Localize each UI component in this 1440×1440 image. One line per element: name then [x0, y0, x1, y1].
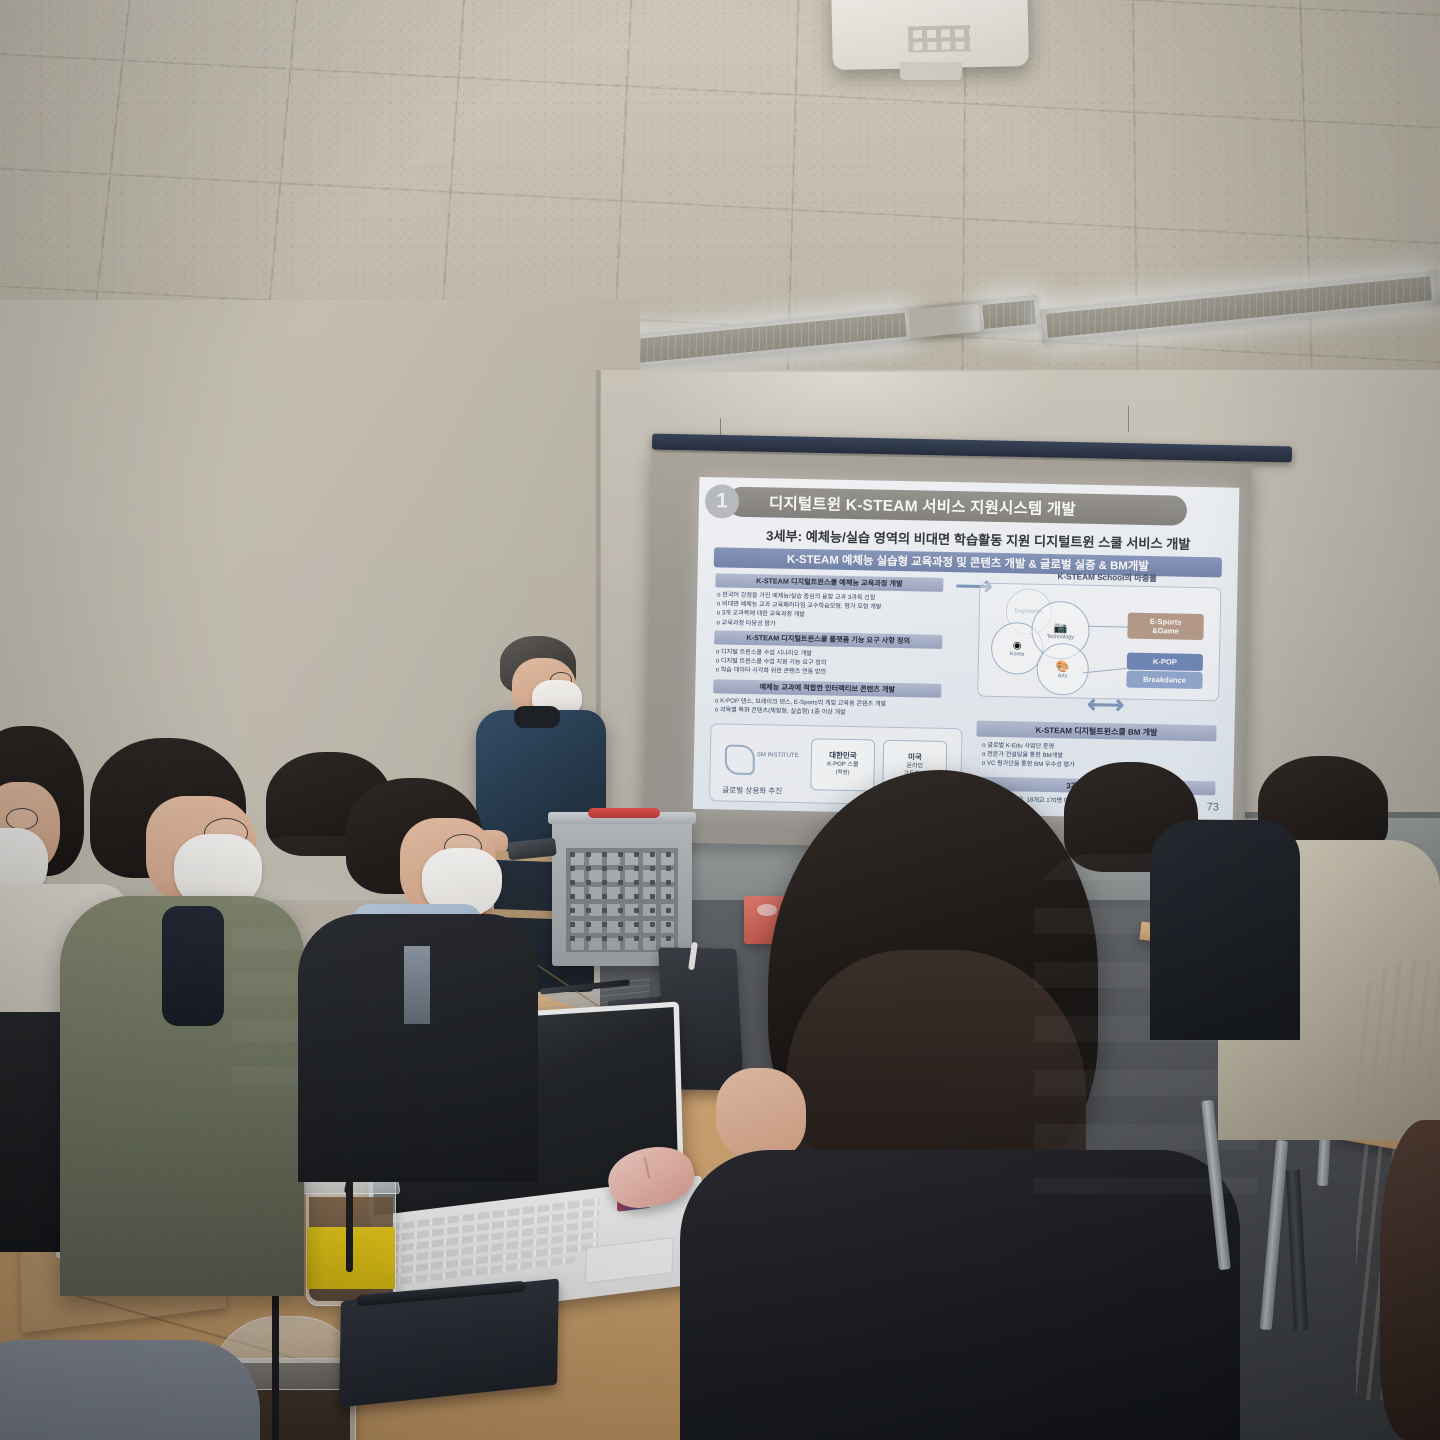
projector-mount	[900, 62, 962, 80]
podium-perforation	[666, 894, 671, 899]
podium-perforation	[586, 866, 591, 871]
podium-perforation	[634, 922, 639, 927]
podium-red-handle	[588, 808, 660, 818]
podium-perforation	[650, 908, 655, 913]
podium-perforation	[618, 880, 623, 885]
chip-breakdance: Breakdance	[1126, 671, 1202, 690]
podium-perforation	[586, 880, 591, 885]
podium-perforation	[650, 936, 655, 941]
diagram-panel: Engineering ◉ Korea 📷 Technology 🎨 Arts …	[977, 583, 1221, 702]
podium-perforation	[570, 880, 575, 885]
attendee-dark-right-back	[1150, 800, 1300, 1040]
podium-perforation	[618, 922, 623, 927]
podium-perforation	[618, 936, 623, 941]
podium-perforation	[650, 866, 655, 871]
podium-perforation	[634, 908, 639, 913]
podium-perforation	[586, 936, 591, 941]
diagram-title: K-STEAM School의 마중물	[1057, 570, 1157, 584]
podium	[552, 818, 692, 966]
longhair-hand	[716, 1068, 806, 1160]
podium-perforation	[570, 922, 575, 927]
podium-perforation	[570, 936, 575, 941]
podium-perforation	[618, 852, 623, 857]
podium-perforation	[602, 866, 607, 871]
foreground-shoulder	[0, 1340, 260, 1440]
podium-perforation	[666, 852, 671, 857]
podium-perforation	[666, 922, 671, 927]
presentation-room-scene: 디지털트윈 K-STEAM 서비스 지원시스템 개발 1 3세부: 예체능/실습…	[0, 0, 1440, 1440]
podium-perforation	[586, 922, 591, 927]
podium-perforation	[666, 936, 671, 941]
podium-perforation	[634, 936, 639, 941]
attendee-far-right-longhair	[1380, 1120, 1440, 1440]
slide-title: 디지털트윈 K-STEAM 서비스 지원시스템 개발	[769, 491, 1076, 519]
podium-perforation	[602, 936, 607, 941]
podium-perforation	[602, 908, 607, 913]
podium-perforation	[666, 866, 671, 871]
podium-perforation	[650, 880, 655, 885]
slide-section-bullets-3: K-POP 댄스, 브레이크 댄스, E-Sports의 게임 교육용 콘텐츠 …	[715, 696, 965, 719]
slide-section-header-1: K-STEAM 디지털트윈스쿨 예체능 교육과정 개발	[715, 573, 943, 592]
diagram-connector-1	[1088, 626, 1128, 628]
podium-perforation	[570, 866, 575, 871]
slide-section-header-3: 예체능 교과에 적합한 인터랙티브 콘텐츠 개발	[713, 679, 941, 698]
chip-esports-game: E-Sports &Game	[1127, 613, 1204, 641]
podium-perforation	[602, 922, 607, 927]
bm-section-header: K-STEAM 디지털트윈스쿨 BM 개발	[976, 721, 1216, 742]
ceiling-projector	[831, 0, 1029, 70]
slide-section-bullets-1: 한국어 강점을 가진 예체능/실습 중심의 융합 교과 3과목 선정 비대면 예…	[716, 590, 957, 632]
slide-section-bullets-2: 디지털 트윈스쿨 수업 시나리오 개발 디지털 트윈스쿨 수업 지원 기능 요구…	[716, 647, 957, 679]
screen-hanger-wire-right	[1128, 406, 1129, 432]
podium-perforation	[570, 908, 575, 913]
woman-left-glasses	[6, 808, 38, 830]
attendee-man-shirt	[318, 778, 548, 1178]
slide-title-bar: 디지털트윈 K-STEAM 서비스 지원시스템 개발	[727, 487, 1188, 526]
man-shirt-tie	[404, 946, 430, 1024]
podium-perforation	[570, 852, 575, 857]
podium-perforation	[618, 908, 623, 913]
podium-perforation	[602, 880, 607, 885]
podium-perforation	[634, 866, 639, 871]
podium-perforation	[586, 908, 591, 913]
podium-perforation	[618, 866, 623, 871]
circle-arts: 🎨 Arts	[1036, 643, 1089, 696]
diagram-connector-2	[1083, 668, 1127, 673]
straw-yellow-cup-lower	[346, 1180, 353, 1272]
presenter-collar	[514, 706, 560, 728]
podium-perforation	[570, 894, 575, 899]
podium-perforation	[666, 908, 671, 913]
slide-section-header-2: K-STEAM 디지털트윈스쿨 플랫폼 기능 요구 사항 정의	[714, 630, 942, 649]
podium-perforation	[666, 880, 671, 885]
podium-perforation	[650, 922, 655, 927]
podium-perforation	[634, 852, 639, 857]
podium-perforation	[586, 894, 591, 899]
podium-perforation	[634, 894, 639, 899]
dark-right-back-jacket	[1150, 820, 1300, 1040]
diagram-arrow-out: ⟷	[1087, 689, 1125, 721]
podium-perforation	[618, 894, 623, 899]
podium-perforation	[650, 852, 655, 857]
chip-kpop: K-POP	[1127, 653, 1203, 672]
podium-perforation	[602, 894, 607, 899]
podium-perforation	[650, 894, 655, 899]
podium-perforation	[602, 852, 607, 857]
podium-perforation	[634, 880, 639, 885]
podium-perforation	[586, 852, 591, 857]
laptop-trackpad[interactable]	[585, 1237, 674, 1284]
far-right-hair	[1380, 1120, 1440, 1440]
man-olive-inner-shirt	[162, 906, 224, 1026]
sm-institute-label: SM INSTITUTE	[757, 751, 803, 760]
